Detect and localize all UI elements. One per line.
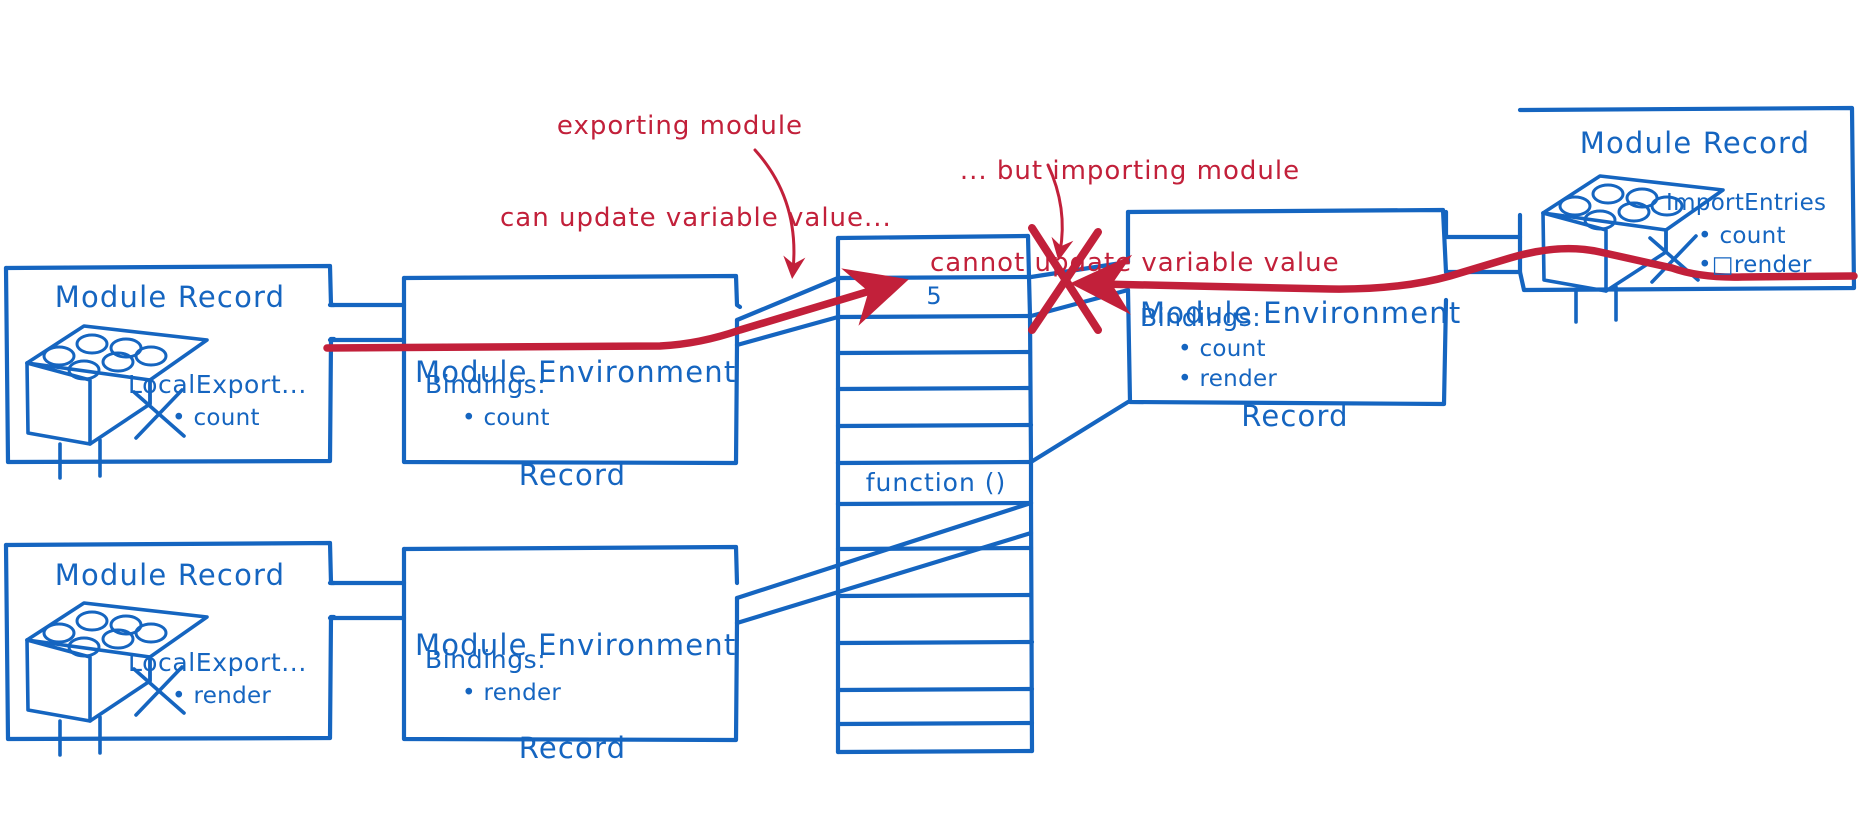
diagram-canvas: exporting module can update variable val… xyxy=(0,0,1860,765)
item-label: render xyxy=(483,680,561,706)
box-section-bindings-importer: Bindings: xyxy=(1140,303,1261,333)
box-item-count: • count xyxy=(172,405,260,432)
annotation-exporting: exporting module can update variable val… xyxy=(500,50,860,295)
item-label: count xyxy=(1719,223,1785,249)
box-section-bindings-render: Bindings: xyxy=(425,645,546,675)
box-item-render: • render xyxy=(172,683,271,710)
item-label: count xyxy=(483,405,549,431)
box-item-binding-render: • render xyxy=(462,680,561,707)
box-title-module-record-count: Module Record xyxy=(30,280,310,314)
box-section-local-export-count: LocalExport... xyxy=(128,370,307,400)
box-title-module-env-record-importer: Module Environment Record xyxy=(1140,228,1450,502)
box-section-import-entries: ImportEntries xyxy=(1666,190,1826,217)
annotation-exporting-line2: can update variable value... xyxy=(500,203,860,234)
item-label: □render xyxy=(1712,252,1812,278)
annotation-importing-line1: ... but importing module xyxy=(930,156,1330,187)
title-line2: Record xyxy=(415,731,730,765)
box-title-module-record-render: Module Record xyxy=(30,558,310,592)
title-line2: Record xyxy=(1140,399,1450,433)
box-item-importer-count: • count xyxy=(1178,336,1266,363)
item-label: render xyxy=(1199,366,1277,392)
box-item-import-render: •□render xyxy=(1698,252,1812,279)
title-line2: Record xyxy=(415,458,730,492)
item-label: render xyxy=(193,683,271,709)
box-section-bindings-count: Bindings: xyxy=(425,370,546,400)
item-label: count xyxy=(193,405,259,431)
box-item-import-count: • count xyxy=(1698,223,1786,250)
stack-function-label: function () xyxy=(838,468,1034,498)
box-item-binding-count: • count xyxy=(462,405,550,432)
annotation-exporting-line1: exporting module xyxy=(500,111,860,142)
box-title-module-record-importer: Module Record xyxy=(1550,126,1840,160)
box-item-importer-render: • render xyxy=(1178,366,1277,393)
item-label: count xyxy=(1199,336,1265,362)
box-section-local-export-render: LocalExport... xyxy=(128,648,307,678)
stack-value-label: 5 xyxy=(838,282,1030,310)
